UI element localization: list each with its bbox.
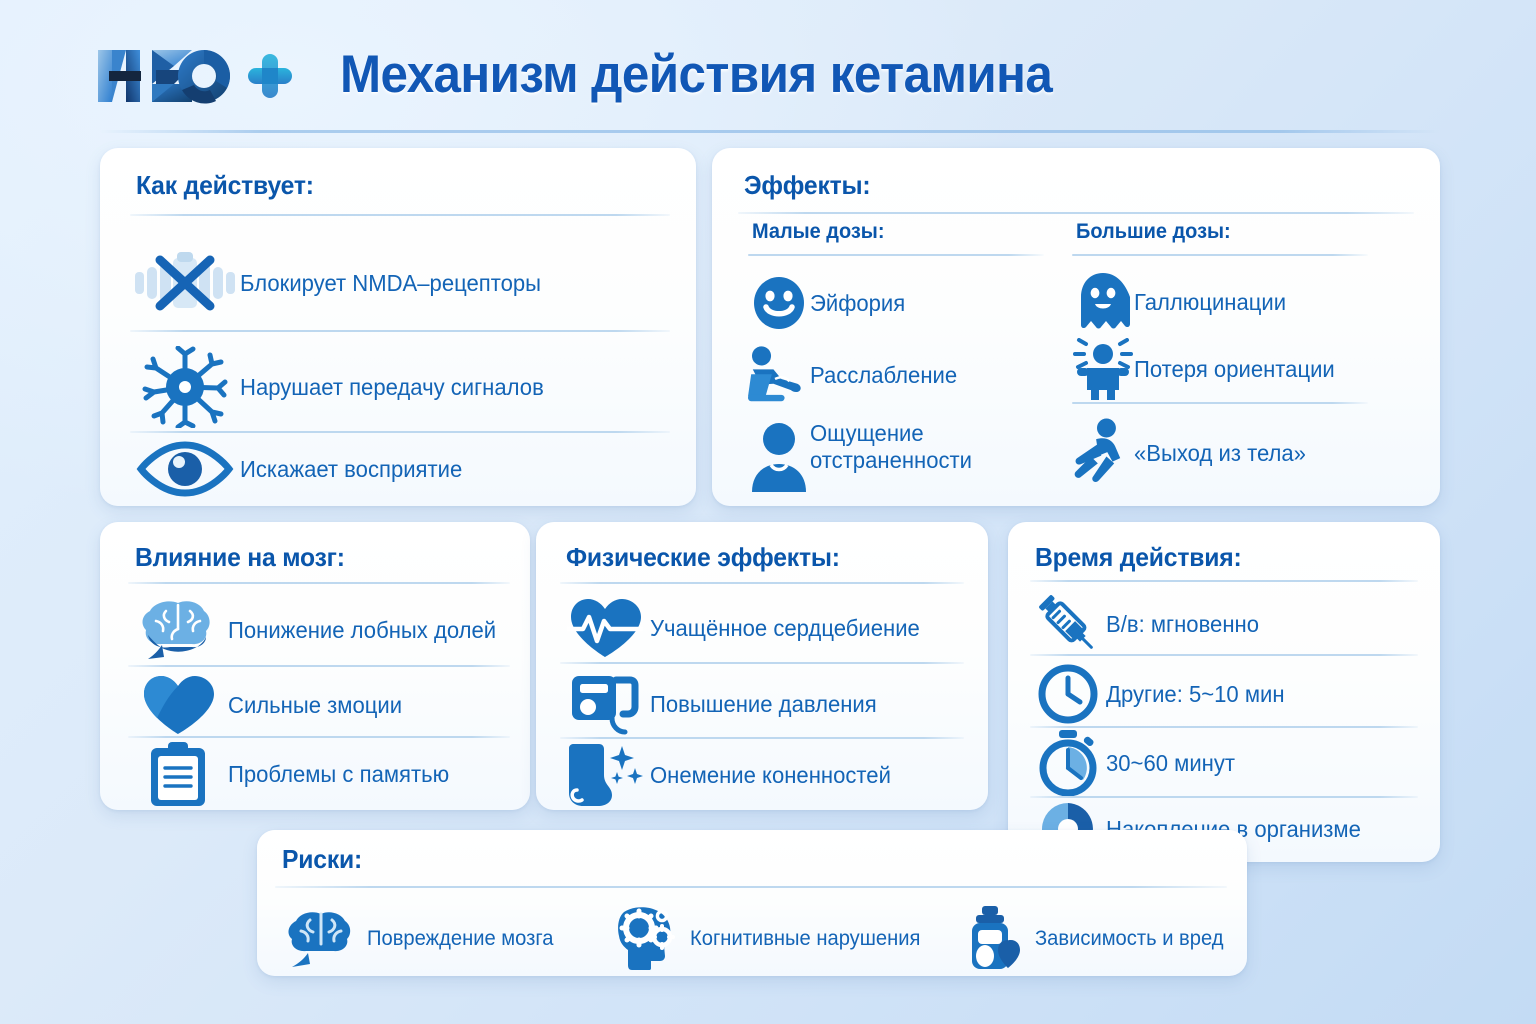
syringe-icon	[1030, 589, 1106, 659]
brain-icon	[128, 599, 228, 661]
card-time-title: Время действия:	[1035, 542, 1241, 573]
divider	[560, 582, 964, 584]
infographic-canvas: Механизм действия кетамина Как действует…	[0, 0, 1536, 1024]
list-item[interactable]: Эйфория	[748, 270, 909, 336]
list-item-label: «Выход из тела»	[1134, 440, 1306, 467]
list-item[interactable]: Зависимость и вред	[953, 906, 1231, 970]
card-risks: Риски: Повреждение мозга	[257, 830, 1247, 976]
card-effects-title: Эффекты:	[744, 170, 870, 201]
list-item-label: Галлюцинации	[1134, 289, 1286, 316]
column-subtitle: Большие дозы:	[1076, 220, 1231, 244]
blood-pressure-monitor-icon	[560, 670, 650, 738]
list-item-label: 30~60 минут	[1106, 750, 1235, 777]
clipboard-icon	[128, 740, 228, 808]
divider	[1030, 726, 1418, 728]
page-header: Механизм действия кетамина	[0, 0, 1536, 130]
person-floating-icon	[1072, 413, 1134, 493]
list-item[interactable]: Повреждение мозга	[275, 909, 604, 967]
person-bust-icon	[748, 420, 810, 492]
header-divider	[100, 130, 1440, 133]
list-item-label: Повреждение мозга	[367, 925, 553, 952]
list-item[interactable]: Сильные змоции	[128, 674, 518, 736]
head-gears-icon	[604, 906, 690, 970]
divider	[128, 582, 510, 584]
divider	[275, 886, 1227, 888]
list-item-label: Учащённое сердцебиение	[650, 615, 920, 642]
list-item[interactable]: 30~60 минут	[1030, 730, 1426, 796]
list-item-label: Расслабление	[810, 362, 957, 389]
card-how-title: Как действует:	[136, 170, 314, 201]
list-item[interactable]: «Выход из тела»	[1072, 412, 1313, 494]
page-title: Механизм действия кетамина	[340, 44, 1052, 106]
clock-icon	[1030, 664, 1106, 724]
list-item[interactable]: Онемение коненностей	[560, 742, 972, 808]
list-item-label: Понижение лобных долей	[228, 617, 496, 644]
list-item-label: Когнитивные нарушения	[690, 925, 920, 952]
smiley-face-icon	[748, 275, 810, 331]
card-physical-effects: Физические эффекты: Учащённое сердцебиен…	[536, 522, 988, 810]
list-item-label: Онемение коненностей	[650, 762, 891, 789]
card-effects: Эффекты: Малые дозы: Эйфория	[712, 148, 1440, 506]
foot-tingling-icon	[560, 742, 650, 808]
list-item-label: Проблемы с памятью	[228, 761, 449, 788]
card-risks-title: Риски:	[282, 844, 362, 875]
list-item[interactable]: Галлюцинации	[1072, 268, 1292, 336]
list-item[interactable]: Потеря ориентации	[1072, 338, 1343, 400]
neuron-icon	[130, 346, 240, 428]
list-item[interactable]: Блокирует NMDA–рецепторы	[130, 238, 675, 328]
list-item-label: В/в: мгновенно	[1106, 611, 1259, 638]
divider	[1030, 580, 1418, 582]
person-dizzy-icon	[1072, 338, 1134, 400]
list-item-label: Эйфория	[810, 290, 905, 317]
heart-icon	[128, 674, 228, 736]
list-item-label: Искажает восприятие	[240, 456, 462, 483]
list-item-label: Другие: 5~10 мин	[1106, 681, 1285, 708]
divider	[130, 214, 670, 216]
pill-bottle-icon	[953, 906, 1035, 970]
card-how-it-works: Как действует:	[100, 148, 696, 506]
divider	[560, 662, 964, 664]
list-item-label: Ощущение отстраненности	[810, 420, 1016, 474]
list-item-label: Потеря ориентации	[1134, 356, 1335, 383]
list-item[interactable]: Искажает восприятие	[130, 438, 675, 500]
divider	[130, 330, 670, 332]
list-item[interactable]: Повышение давления	[560, 669, 972, 739]
brain-damage-icon	[275, 909, 367, 967]
list-item[interactable]: Проблемы с памятью	[128, 741, 518, 807]
risks-list: Повреждение мозга	[275, 906, 1231, 970]
divider	[130, 431, 670, 433]
list-item-label: Повышение давления	[650, 691, 877, 718]
divider	[1030, 796, 1418, 798]
neo-plus-logo	[96, 44, 292, 108]
person-reclining-icon	[748, 338, 810, 412]
divider	[738, 212, 1414, 214]
card-physical-title: Физические эффекты:	[566, 542, 840, 573]
list-item[interactable]: Нарушает передачу сигналов	[130, 343, 675, 431]
card-brain-impact: Влияние на мозг: Понижение лобных долей	[100, 522, 530, 810]
list-item[interactable]: Понижение лобных долей	[128, 596, 518, 664]
divider	[560, 737, 964, 739]
list-item-label: Блокирует NMDA–рецепторы	[240, 270, 541, 297]
list-item-label: Сильные змоции	[228, 692, 402, 719]
nmda-receptor-blocked-icon	[130, 248, 240, 318]
list-item[interactable]: Когнитивные нарушения	[604, 906, 953, 970]
stopwatch-icon	[1030, 730, 1106, 796]
ghost-icon	[1072, 271, 1134, 333]
divider	[748, 254, 1044, 256]
divider	[128, 665, 510, 667]
list-item[interactable]: Ощущение отстраненности	[748, 420, 1025, 496]
list-item[interactable]: Другие: 5~10 мин	[1030, 662, 1426, 726]
list-item[interactable]: Расслабление	[748, 338, 963, 412]
divider	[128, 736, 510, 738]
list-item-label: Зависимость и вред	[1035, 925, 1224, 952]
divider	[1072, 402, 1368, 404]
divider	[1030, 654, 1418, 656]
list-item[interactable]: Учащённое сердцебиение	[560, 596, 972, 660]
column-subtitle: Малые дозы:	[752, 220, 884, 244]
card-duration: Время действия:	[1008, 522, 1440, 862]
list-item[interactable]: В/в: мгновенно	[1030, 588, 1426, 660]
list-item-label: Нарушает передачу сигналов	[240, 374, 544, 401]
divider	[1072, 254, 1368, 256]
card-brain-title: Влияние на мозг:	[135, 542, 345, 573]
eye-icon	[130, 441, 240, 497]
heart-pulse-icon	[560, 597, 650, 659]
